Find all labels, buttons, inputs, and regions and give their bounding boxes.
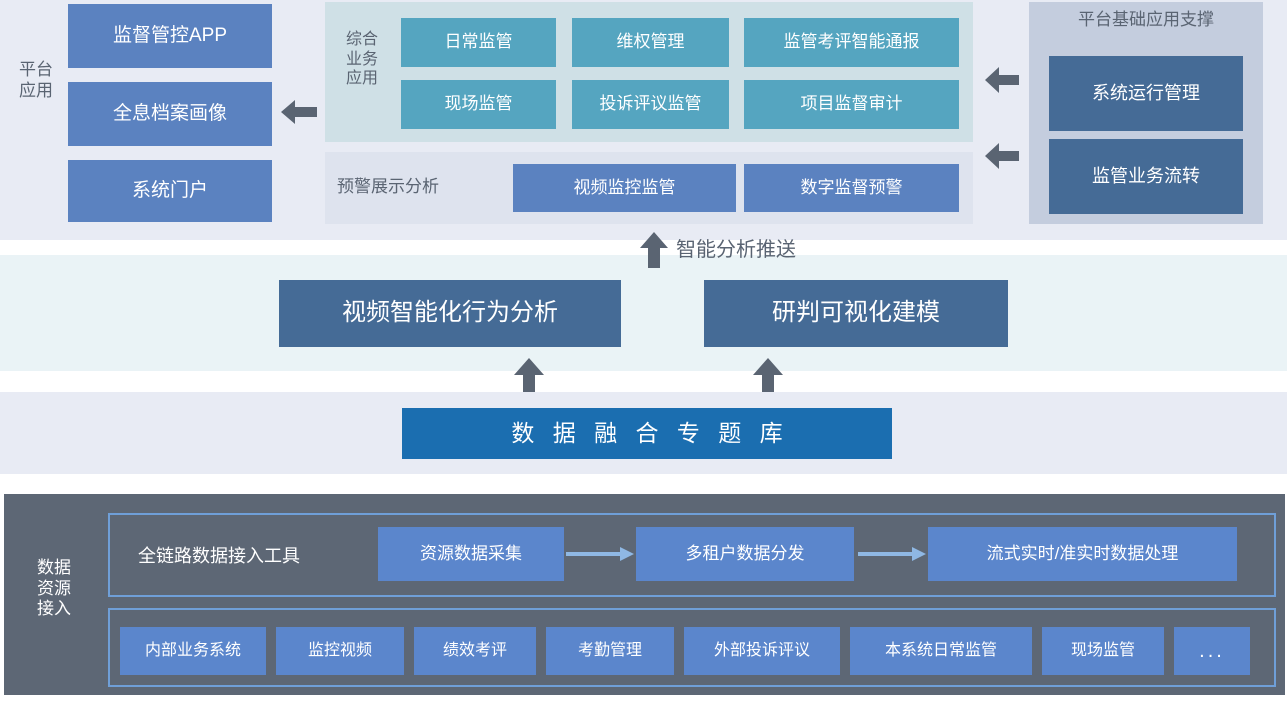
box-system-operation-management[interactable]: 系统运行管理 <box>1049 56 1243 131</box>
arrow-left-into-archive <box>281 98 317 126</box>
panel-platform-basic-application-support-title: 平台基础应用支撑 <box>1029 10 1263 31</box>
box-attendance-management[interactable]: 考勤管理 <box>546 627 674 675</box>
box-supervision-business-flow[interactable]: 监管业务流转 <box>1049 139 1243 214</box>
arrow-up-intelligent-analysis-push <box>639 232 669 268</box>
band-intelligent-analysis <box>0 255 1287 371</box>
band-data-source-access-label: 数据 资源 接入 <box>18 558 90 620</box>
box-multi-tenant-data-distribution[interactable]: 多租户数据分发 <box>636 527 854 581</box>
band-platform-application-label: 平台 应用 <box>10 60 62 101</box>
box-video-intelligent-behavior-analysis[interactable]: 视频智能化行为分析 <box>279 280 621 347</box>
box-video-monitoring-supervision[interactable]: 视频监控监管 <box>513 164 736 212</box>
box-more-sources-ellipsis[interactable]: ... <box>1174 627 1250 675</box>
box-digital-supervision-early-warning[interactable]: 数字监督预警 <box>744 164 959 212</box>
box-complaint-review-supervision[interactable]: 投诉评议监管 <box>572 80 729 129</box>
box-daily-supervision[interactable]: 日常监管 <box>401 18 556 67</box>
box-onsite-supervision[interactable]: 现场监管 <box>401 80 556 129</box>
box-supervision-control-app[interactable]: 监督管控APP <box>68 4 272 68</box>
arrow-left-from-system-operation <box>985 65 1019 95</box>
box-system-daily-supervision[interactable]: 本系统日常监管 <box>850 627 1032 675</box>
label-intelligent-analysis-push: 智能分析推送 <box>676 233 796 262</box>
box-resource-data-collection[interactable]: 资源数据采集 <box>378 527 564 581</box>
box-performance-appraisal[interactable]: 绩效考评 <box>414 627 536 675</box>
box-rights-protection-management[interactable]: 维权管理 <box>572 18 729 67</box>
box-surveillance-video[interactable]: 监控视频 <box>276 627 404 675</box>
box-onsite-supervision-source[interactable]: 现场监管 <box>1042 627 1164 675</box>
architecture-diagram: 平台 应用 监督管控APP 全息档案画像 系统门户 综合 业务 应用 日常监管 … <box>0 0 1287 708</box>
box-streaming-realtime-data-processing[interactable]: 流式实时/准实时数据处理 <box>928 527 1237 581</box>
panel-comprehensive-business-application-label: 综合 业务 应用 <box>337 30 387 89</box>
arrow-left-from-business-flow <box>985 141 1019 171</box>
box-external-complaint-review[interactable]: 外部投诉评议 <box>684 627 840 675</box>
arrow-right-distribution-to-processing <box>858 546 926 562</box>
box-holographic-archive-portrait[interactable]: 全息档案画像 <box>68 82 272 146</box>
box-project-supervision-audit[interactable]: 项目监督审计 <box>744 80 959 129</box>
arrow-right-collection-to-distribution <box>566 546 634 562</box>
box-data-fusion-thematic-library[interactable]: 数 据 融 合 专 题 库 <box>402 408 892 459</box>
box-system-portal[interactable]: 系统门户 <box>68 160 272 222</box>
arrow-up-into-judgment-modeling <box>752 358 784 394</box>
box-judgment-visualization-modeling[interactable]: 研判可视化建模 <box>704 280 1008 347</box>
arrow-up-into-video-analysis <box>513 358 545 394</box>
box-internal-business-system[interactable]: 内部业务系统 <box>120 627 266 675</box>
panel-warning-display-analysis-label: 预警展示分析 <box>337 177 487 198</box>
label-full-chain-data-access-tools: 全链路数据接入工具 <box>138 542 300 568</box>
box-supervision-assessment-smart-notification[interactable]: 监管考评智能通报 <box>744 18 959 67</box>
